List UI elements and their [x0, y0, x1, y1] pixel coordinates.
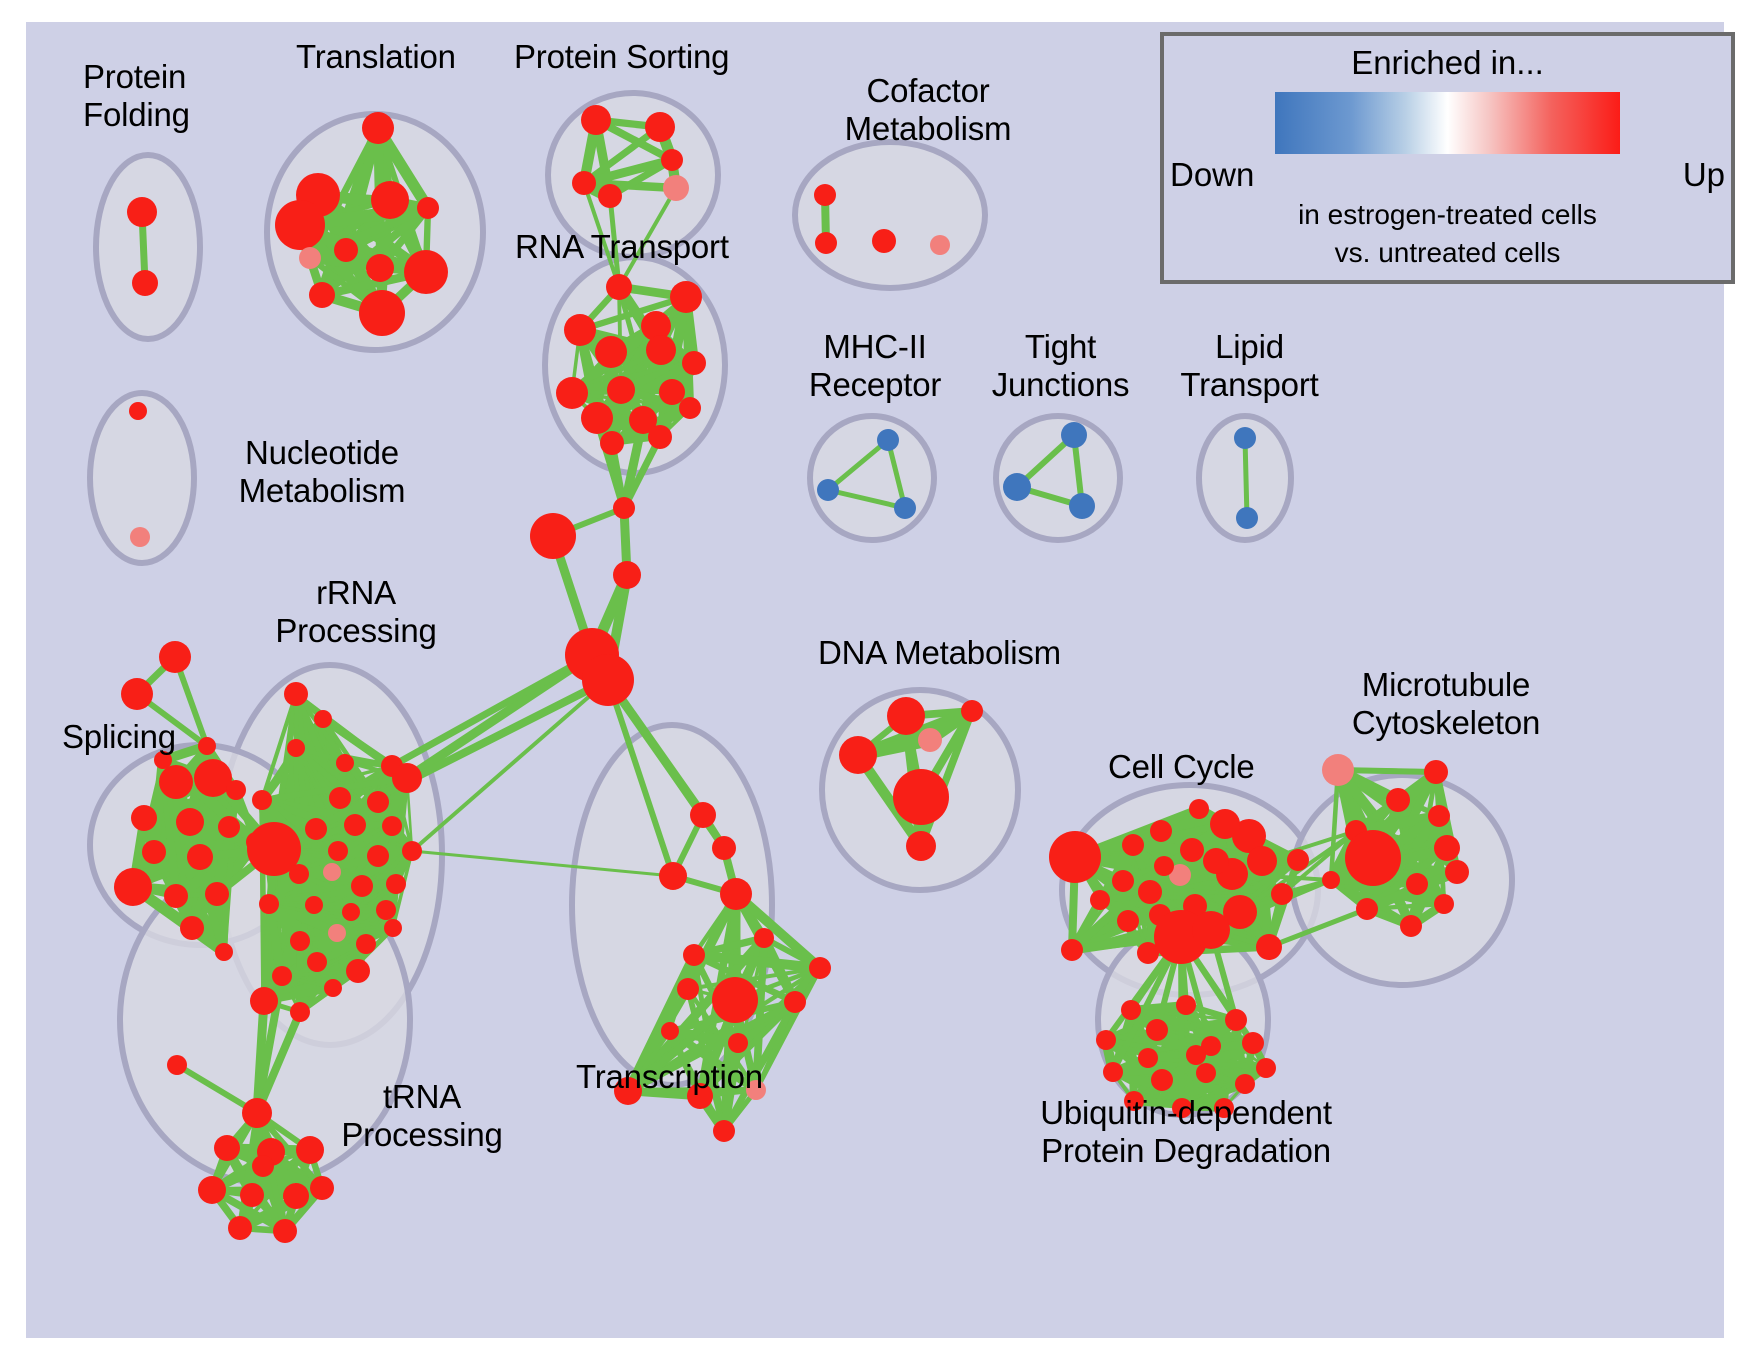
- network-node: [648, 425, 672, 449]
- network-node: [598, 184, 622, 208]
- network-node: [712, 836, 736, 860]
- legend-low-label: Down: [1170, 156, 1254, 194]
- network-node: [1236, 507, 1258, 529]
- network-node: [572, 171, 596, 195]
- network-node: [1138, 1048, 1158, 1068]
- network-node: [784, 991, 806, 1013]
- network-node: [1146, 1019, 1168, 1041]
- network-node: [272, 966, 292, 986]
- cluster-label-trna-processing: tRNA Processing: [312, 1078, 532, 1154]
- network-node: [690, 802, 716, 828]
- color-gradient-bar: [1275, 92, 1620, 154]
- network-node: [1345, 830, 1401, 886]
- network-node: [1138, 880, 1162, 904]
- network-node: [283, 1183, 309, 1209]
- legend-box: Enriched in... Down Up in estrogen-treat…: [1160, 32, 1735, 284]
- network-node: [180, 916, 204, 940]
- network-node: [1287, 849, 1309, 871]
- network-node: [344, 814, 366, 836]
- network-node: [402, 841, 422, 861]
- network-node: [273, 1219, 297, 1243]
- network-node: [814, 184, 836, 206]
- network-node: [661, 149, 683, 171]
- network-node: [356, 934, 376, 954]
- cluster-label-rrna-processing: rRNA Processing: [256, 574, 456, 650]
- network-node: [307, 952, 327, 972]
- network-node: [530, 513, 576, 559]
- network-node: [728, 1033, 748, 1053]
- legend-high-label: Up: [1683, 156, 1725, 194]
- network-node: [218, 816, 240, 838]
- network-node: [1176, 995, 1196, 1015]
- network-node: [961, 700, 983, 722]
- network-node: [382, 816, 402, 836]
- network-node: [595, 336, 627, 368]
- network-node: [581, 105, 611, 135]
- network-node: [342, 903, 360, 921]
- network-node: [809, 957, 831, 979]
- network-node: [887, 697, 925, 735]
- network-node: [328, 924, 346, 942]
- network-node: [606, 274, 632, 300]
- network-node: [1386, 788, 1410, 812]
- network-node: [682, 351, 706, 375]
- network-node: [1406, 873, 1428, 895]
- network-node: [114, 868, 152, 906]
- network-node: [392, 763, 422, 793]
- cluster-label-cofactor-metabolism: Cofactor Metabolism: [808, 72, 1048, 148]
- network-node: [1434, 894, 1454, 914]
- legend-caption-line2: vs. untreated cells: [1164, 236, 1731, 270]
- network-node: [1322, 754, 1354, 786]
- network-node: [1445, 860, 1469, 884]
- network-node: [1061, 939, 1083, 961]
- network-node: [754, 928, 774, 948]
- enrichment-network-figure: Protein FoldingTranslationProtein Sortin…: [0, 0, 1750, 1360]
- network-node: [328, 841, 348, 861]
- network-node: [1203, 848, 1229, 874]
- cluster-label-nucleotide-metabolism: Nucleotide Metabolism: [202, 434, 442, 510]
- network-node: [1049, 831, 1101, 883]
- network-node: [329, 787, 351, 809]
- network-node: [1121, 1000, 1141, 1020]
- network-node: [1090, 890, 1110, 910]
- network-node: [613, 497, 635, 519]
- network-node: [1189, 799, 1209, 819]
- network-node: [323, 863, 341, 881]
- network-node: [1424, 760, 1448, 784]
- network-node: [351, 875, 373, 897]
- network-node: [371, 181, 409, 219]
- network-node: [132, 270, 158, 296]
- network-node: [613, 561, 641, 589]
- network-node: [305, 896, 323, 914]
- network-node: [159, 641, 191, 673]
- network-node: [712, 977, 758, 1023]
- network-node: [661, 1022, 679, 1040]
- network-node: [290, 931, 310, 951]
- network-node: [130, 527, 150, 547]
- network-node: [1122, 834, 1144, 856]
- network-node: [367, 845, 389, 867]
- network-node: [683, 944, 705, 966]
- cluster-hull: [96, 155, 200, 339]
- network-node: [198, 737, 216, 755]
- network-node: [362, 112, 394, 144]
- network-node: [226, 780, 246, 800]
- network-node: [275, 200, 325, 250]
- network-node: [659, 862, 687, 890]
- network-node: [906, 831, 936, 861]
- network-node: [334, 238, 358, 262]
- network-node: [663, 175, 689, 201]
- network-node: [1247, 846, 1277, 876]
- network-node: [918, 728, 942, 752]
- network-node: [1003, 473, 1031, 501]
- network-node: [1117, 910, 1139, 932]
- network-node: [1234, 427, 1256, 449]
- network-node: [1096, 1030, 1116, 1050]
- network-node: [1322, 871, 1340, 889]
- network-node: [720, 878, 752, 910]
- network-node: [1196, 1063, 1216, 1083]
- network-node: [645, 112, 675, 142]
- network-node: [176, 808, 204, 836]
- cluster-label-translation: Translation: [296, 38, 456, 76]
- network-node: [839, 736, 877, 774]
- network-node: [324, 979, 342, 997]
- network-node: [290, 1002, 310, 1022]
- network-node: [815, 232, 837, 254]
- network-node: [287, 739, 305, 757]
- network-node: [164, 884, 188, 908]
- network-node: [1256, 934, 1282, 960]
- network-node: [240, 1183, 264, 1207]
- network-node: [314, 710, 332, 728]
- network-node: [376, 900, 396, 920]
- network-node: [1428, 805, 1450, 827]
- network-node: [581, 402, 613, 434]
- network-node: [894, 497, 916, 519]
- network-node: [284, 682, 308, 706]
- network-node: [252, 1155, 274, 1177]
- network-node: [299, 247, 321, 269]
- network-node: [346, 959, 370, 983]
- network-node: [872, 229, 896, 253]
- network-node: [564, 314, 596, 346]
- network-node: [679, 397, 701, 419]
- network-edge: [1245, 438, 1247, 518]
- network-node: [242, 1098, 272, 1128]
- network-node: [930, 235, 950, 255]
- network-node: [713, 1120, 735, 1142]
- network-node: [1356, 898, 1378, 920]
- network-node: [1400, 915, 1422, 937]
- network-node: [366, 254, 394, 282]
- network-node: [677, 978, 699, 1000]
- network-node: [646, 335, 676, 365]
- network-node: [1150, 820, 1172, 842]
- cluster-label-protein-folding: Protein Folding: [83, 58, 190, 134]
- network-node: [1151, 1069, 1173, 1091]
- network-node: [1271, 883, 1293, 905]
- network-node: [1192, 911, 1230, 949]
- network-node: [1434, 835, 1460, 861]
- network-node: [259, 894, 279, 914]
- network-node: [250, 987, 278, 1015]
- legend-title: Enriched in...: [1164, 44, 1731, 82]
- network-node: [607, 376, 635, 404]
- legend-caption-line1: in estrogen-treated cells: [1164, 198, 1731, 232]
- cluster-label-tight-junctions: Tight Junctions: [978, 328, 1143, 404]
- network-node: [198, 1176, 226, 1204]
- network-node: [404, 250, 448, 294]
- network-node: [1242, 1032, 1264, 1054]
- network-node: [877, 429, 899, 451]
- cluster-label-protein-sorting: Protein Sorting: [514, 38, 729, 76]
- network-node: [1061, 422, 1087, 448]
- network-node: [1180, 838, 1204, 862]
- network-node: [1235, 1074, 1255, 1094]
- network-node: [205, 882, 229, 906]
- network-node: [1186, 1045, 1206, 1065]
- network-node: [600, 431, 624, 455]
- network-node: [289, 864, 309, 884]
- cluster-label-rna-transport: RNA Transport: [515, 228, 729, 266]
- network-node: [214, 1135, 240, 1161]
- cluster-label-mhc-ii-receptor: MHC-II Receptor: [790, 328, 960, 404]
- network-node: [367, 791, 389, 813]
- network-node: [121, 678, 153, 710]
- network-node: [386, 874, 406, 894]
- network-node: [1154, 856, 1174, 876]
- network-node: [1225, 1009, 1247, 1031]
- cluster-label-ubiquitin-degradation: Ubiquitin-dependent Protein Degradation: [996, 1094, 1376, 1170]
- network-node: [129, 402, 147, 420]
- network-node: [305, 818, 327, 840]
- network-node: [127, 197, 157, 227]
- network-node: [142, 840, 166, 864]
- network-node: [384, 919, 402, 937]
- network-node: [131, 805, 157, 831]
- cluster-label-lipid-transport: Lipid Transport: [1162, 328, 1337, 404]
- network-node: [1210, 809, 1240, 839]
- network-node: [309, 282, 335, 308]
- network-node: [417, 197, 439, 219]
- cluster-label-splicing: Splicing: [62, 718, 176, 756]
- network-node: [252, 790, 272, 810]
- network-node: [187, 844, 213, 870]
- cluster-label-dna-metabolism: DNA Metabolism: [818, 634, 1061, 672]
- network-node: [670, 281, 702, 313]
- network-node: [359, 290, 405, 336]
- network-node: [1112, 870, 1134, 892]
- cluster-label-microtubule-cytoskeleton: Microtubule Cytoskeleton: [1306, 666, 1586, 742]
- network-node: [556, 377, 588, 409]
- network-node: [215, 943, 233, 961]
- network-node: [659, 379, 685, 405]
- network-node: [1103, 1062, 1123, 1082]
- network-node: [817, 479, 839, 501]
- cluster-label-cell-cycle: Cell Cycle: [1108, 748, 1255, 786]
- network-node: [582, 654, 634, 706]
- network-node: [1069, 493, 1095, 519]
- network-node: [228, 1216, 252, 1240]
- cluster-hull: [810, 416, 934, 540]
- network-node: [1256, 1058, 1276, 1078]
- network-node: [310, 1176, 334, 1200]
- network-node: [336, 754, 354, 772]
- network-node: [159, 765, 193, 799]
- network-node: [893, 769, 949, 825]
- network-node: [167, 1055, 187, 1075]
- cluster-label-transcription: Transcription: [576, 1058, 763, 1096]
